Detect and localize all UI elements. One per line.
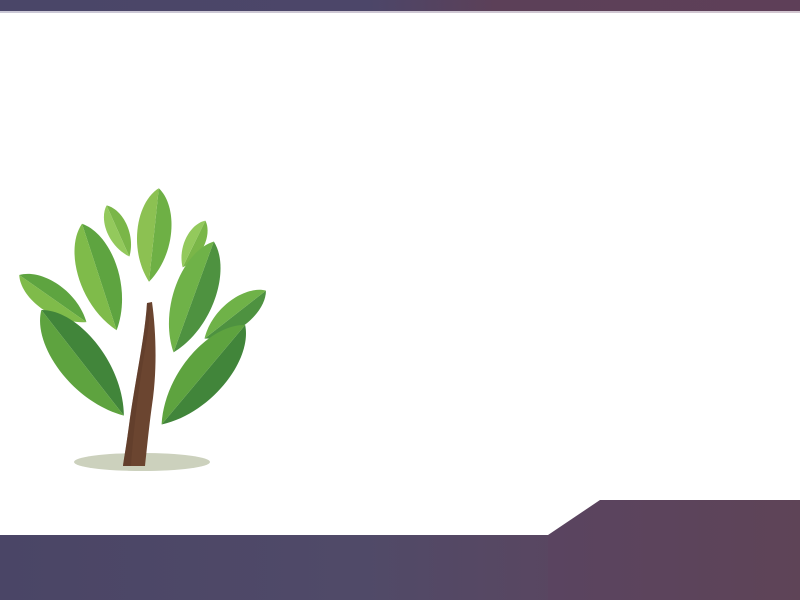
title-line-2-dash	[384, 29, 395, 75]
top-accent-bar	[0, 0, 800, 11]
page-title	[0, 30, 800, 76]
brand-logo[interactable]	[547, 512, 782, 519]
top-accent-hairline	[0, 11, 800, 13]
tree-leaf-9	[145, 311, 262, 439]
slide-canvas	[0, 0, 800, 600]
title-line-2	[0, 30, 800, 76]
tree-leaf-2	[132, 186, 175, 283]
tree-illustration	[14, 186, 270, 482]
title-spacer-2	[395, 29, 417, 75]
